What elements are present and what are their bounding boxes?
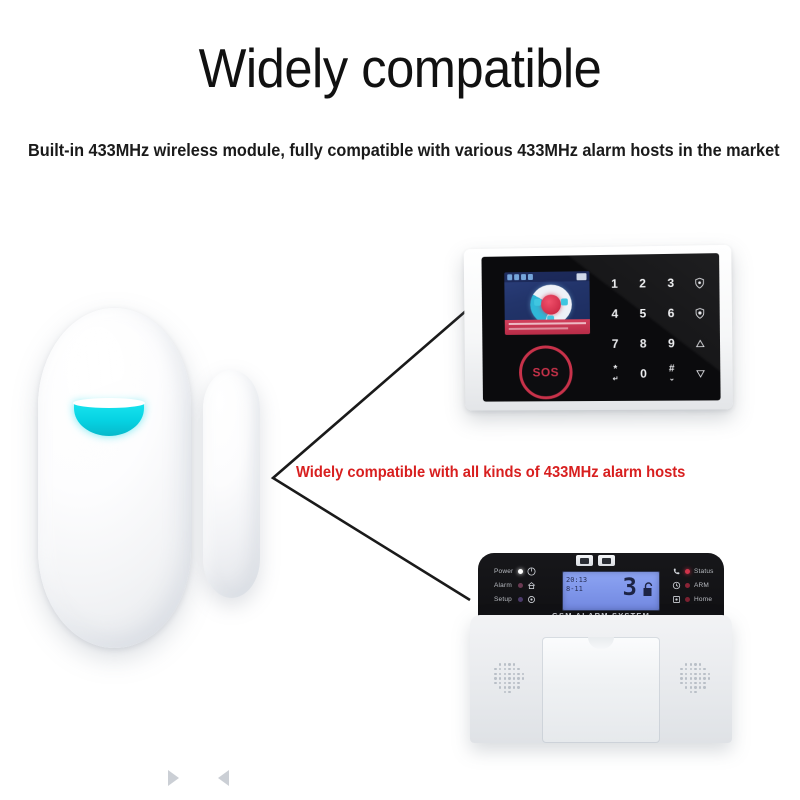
led-status	[685, 569, 690, 574]
indicator-power: Power Alarm Setup	[494, 567, 536, 604]
grille-dot	[513, 686, 515, 688]
indicator-status-group: Status ARM Home	[672, 567, 714, 604]
panel-lower-body	[470, 615, 732, 743]
grille-dot	[690, 677, 692, 679]
grille-dot	[517, 682, 519, 684]
grille-dot	[517, 677, 519, 679]
grille-dot	[504, 673, 506, 675]
grille-dot	[694, 677, 696, 679]
grille-dot	[685, 673, 687, 675]
panel-center-cover	[542, 637, 660, 743]
grille-dot	[694, 691, 696, 693]
grille-dot	[517, 686, 519, 688]
grille-dot	[504, 677, 506, 679]
magnet-bar	[203, 370, 260, 598]
key-hash-label: #	[669, 364, 675, 374]
indicator-label-home: Home	[694, 596, 714, 603]
grille-dot	[508, 677, 510, 679]
grille-dot	[703, 668, 705, 670]
gsm-alarm-panel: 20:13 8-11 3 Power Alarm	[470, 553, 732, 743]
grille-dot	[685, 668, 687, 670]
indicator-label-arm: ARM	[694, 582, 714, 589]
shield-disarm-icon[interactable]	[685, 267, 714, 298]
grille-dot	[685, 682, 687, 684]
key-star-label: *	[613, 365, 617, 375]
speaker-grille-right	[674, 657, 714, 697]
signal-icon	[507, 274, 512, 280]
grille-dot	[699, 677, 701, 679]
grille-dot	[513, 673, 515, 675]
grille-dot	[504, 691, 506, 693]
panel-top-bezel: 20:13 8-11 3 Power Alarm	[478, 553, 724, 623]
grille-dot	[494, 677, 496, 679]
sim-card-button[interactable]	[576, 555, 593, 566]
triangle-left-icon	[218, 770, 229, 786]
grille-dot	[499, 668, 501, 670]
house-icon	[672, 595, 681, 604]
grille-dot	[690, 682, 692, 684]
grille-dot	[690, 668, 692, 670]
clock-icon	[672, 581, 681, 590]
screen-alert-banner	[505, 319, 590, 335]
sim-icon	[580, 558, 589, 564]
banner-line-1	[509, 322, 586, 325]
triangle-right-icon	[168, 770, 179, 786]
grille-dot	[694, 673, 696, 675]
key-1[interactable]: 1	[600, 269, 628, 299]
indicator-label-alarm: Alarm	[494, 582, 514, 589]
grille-dot	[680, 668, 682, 670]
sos-button[interactable]: SOS	[519, 345, 573, 399]
grille-dot	[685, 663, 687, 665]
compatibility-caption: Widely compatible with all kinds of 433M…	[296, 464, 685, 482]
door-sensor	[30, 290, 265, 660]
key-9[interactable]: 9	[657, 328, 686, 358]
grille-dot	[517, 668, 519, 670]
grille-dot	[685, 677, 687, 679]
grille-dot	[513, 663, 515, 665]
grille-dot	[694, 663, 696, 665]
gear-icon	[527, 595, 536, 604]
indicator-row-setup: Setup	[494, 595, 536, 604]
grille-dot	[508, 682, 510, 684]
touch-keypad: 1 2 3 4 5 6 7 8 9	[600, 267, 714, 389]
key-2[interactable]: 2	[628, 268, 656, 298]
banner-line-2	[509, 327, 569, 330]
grille-dot	[690, 673, 692, 675]
grille-dot	[499, 682, 501, 684]
grille-dot	[699, 668, 701, 670]
key-0[interactable]: 0	[629, 359, 657, 389]
grille-dot	[508, 673, 510, 675]
key-6[interactable]: 6	[657, 298, 686, 328]
grille-dot	[690, 691, 692, 693]
led-arm	[685, 583, 690, 588]
battery-icon	[521, 274, 526, 280]
grille-dot	[699, 663, 701, 665]
key-star[interactable]: * ↵	[601, 359, 629, 389]
grille-dot	[513, 668, 515, 670]
grille-dot	[522, 673, 524, 675]
grille-dot	[517, 673, 519, 675]
grille-dot	[680, 677, 682, 679]
key-4[interactable]: 4	[601, 299, 629, 329]
grille-dot	[504, 668, 506, 670]
phone-icon	[672, 567, 681, 576]
grille-dot	[708, 677, 710, 679]
grille-dot	[504, 682, 506, 684]
dial-segment-disarm	[534, 299, 541, 306]
grille-dot	[694, 686, 696, 688]
lcd-zone-number: 3	[623, 575, 637, 599]
grille-dot	[703, 682, 705, 684]
grille-dot	[680, 673, 682, 675]
indicator-row-status: Status	[672, 567, 714, 576]
led-power	[518, 569, 523, 574]
wifi-icon	[514, 274, 519, 280]
grille-dot	[494, 668, 496, 670]
grille-dot	[690, 686, 692, 688]
lcd-small-readout: 20:13 8-11	[566, 576, 587, 594]
grille-dot	[504, 686, 506, 688]
key-3[interactable]: 3	[657, 268, 686, 299]
panel-top-buttons	[576, 555, 615, 566]
lcd-date: 8-11	[566, 585, 587, 594]
grille-dot	[508, 668, 510, 670]
grille-dot	[494, 682, 496, 684]
screen-status-icons	[507, 274, 533, 280]
speaker-grille-left	[488, 657, 528, 697]
grille-dot	[680, 682, 682, 684]
key-5[interactable]: 5	[629, 298, 657, 328]
grille-dot	[499, 686, 501, 688]
color-screen	[504, 271, 590, 335]
grille-dot	[699, 686, 701, 688]
grille-dot	[703, 677, 705, 679]
grille-dot	[699, 682, 701, 684]
gsm-lcd-screen: 20:13 8-11 3	[562, 571, 660, 611]
grille-dot	[508, 663, 510, 665]
indicator-row-arm: ARM	[672, 581, 714, 590]
grille-dot	[690, 663, 692, 665]
speaker-icon	[602, 558, 611, 564]
grille-dot	[703, 673, 705, 675]
led-home	[685, 597, 690, 602]
grille-dot	[508, 691, 510, 693]
page-subtitle: Built-in 433MHz wireless module, fully c…	[28, 140, 772, 161]
triangle-up-icon[interactable]	[685, 328, 714, 358]
grille-dot	[694, 668, 696, 670]
panel-glass-face: SOS 1 2 3 4 5 6 7 8 9	[481, 253, 720, 401]
grille-dot	[513, 677, 515, 679]
grille-dot	[685, 686, 687, 688]
grille-dot	[513, 682, 515, 684]
grille-dot	[504, 663, 506, 665]
sensor-body	[38, 308, 191, 648]
triangle-down-icon[interactable]	[686, 358, 715, 388]
product-infographic: Widely compatible Built-in 433MHz wirele…	[0, 0, 800, 800]
indicator-label-setup: Setup	[494, 596, 514, 603]
home-icon	[527, 581, 536, 590]
unlock-icon	[642, 582, 655, 597]
speaker-button[interactable]	[598, 555, 615, 566]
grille-dot	[694, 682, 696, 684]
shield-arm-icon[interactable]	[685, 298, 714, 329]
grille-dot	[522, 677, 524, 679]
led-alarm	[518, 583, 523, 588]
indicator-row-alarm: Alarm	[494, 581, 536, 590]
grille-dot	[699, 673, 701, 675]
grille-dot	[708, 673, 710, 675]
lock-icon	[528, 274, 533, 280]
enter-icon: ↵	[613, 376, 619, 383]
key-hash[interactable]: # ⌄	[657, 358, 686, 388]
indicator-row-home: Home	[672, 595, 714, 604]
grille-dot	[499, 677, 501, 679]
camera-icon	[577, 273, 587, 280]
grille-dot	[494, 673, 496, 675]
grille-dot	[508, 686, 510, 688]
wifi-keypad-panel: SOS 1 2 3 4 5 6 7 8 9	[463, 247, 731, 410]
indicator-label-power: Power	[494, 568, 514, 575]
grille-dot	[499, 663, 501, 665]
power-icon	[527, 567, 536, 576]
page-title: Widely compatible	[32, 36, 768, 100]
chevron-down-icon: ⌄	[669, 375, 675, 382]
grille-dot	[703, 686, 705, 688]
led-setup	[518, 597, 523, 602]
lcd-time: 20:13	[566, 576, 587, 585]
grille-dot	[499, 673, 501, 675]
dial-segment-home	[561, 298, 568, 305]
indicator-row-power: Power	[494, 567, 536, 576]
key-7[interactable]: 7	[601, 329, 629, 359]
key-8[interactable]: 8	[629, 328, 657, 358]
indicator-label-status: Status	[694, 568, 714, 575]
